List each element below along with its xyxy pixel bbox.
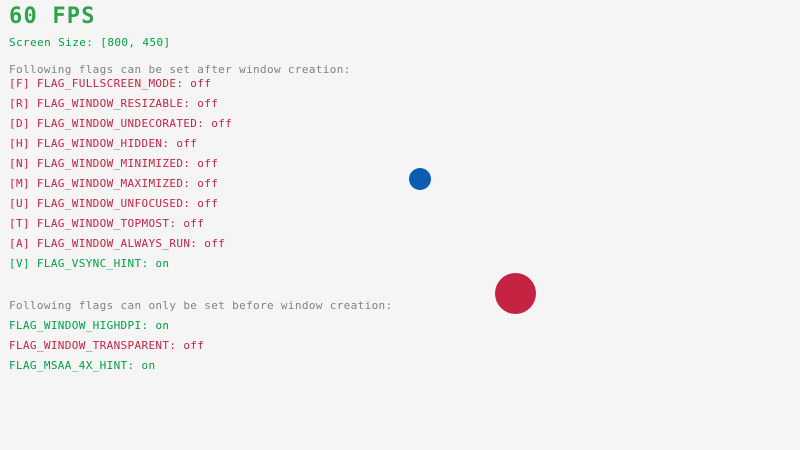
after-creation-heading: Following flags can be set after window … xyxy=(9,64,351,75)
flag-hotkey: [H] xyxy=(9,137,37,150)
flag-hotkey: [M] xyxy=(9,177,37,190)
flag-name: FLAG_VSYNC_HINT: xyxy=(37,257,156,270)
flag-value: off xyxy=(197,197,218,210)
flag-value: on xyxy=(155,319,169,332)
flag-hotkey: [T] xyxy=(9,217,37,230)
flag-flag-window-transparent[interactable]: FLAG_WINDOW_TRANSPARENT: off xyxy=(9,340,204,351)
flag-value: off xyxy=(183,217,204,230)
flag-hotkey: [N] xyxy=(9,157,37,170)
flag-hotkey: [D] xyxy=(9,117,37,130)
ball-blue xyxy=(409,168,431,190)
flag-name: FLAG_MSAA_4X_HINT: xyxy=(9,359,141,372)
flag-flag-window-resizable[interactable]: [R] FLAG_WINDOW_RESIZABLE: off xyxy=(9,98,218,109)
flag-value: off xyxy=(197,157,218,170)
flag-flag-window-topmost[interactable]: [T] FLAG_WINDOW_TOPMOST: off xyxy=(9,218,204,229)
flag-hotkey: [A] xyxy=(9,237,37,250)
flag-hotkey: [F] xyxy=(9,77,37,90)
flag-value: off xyxy=(204,237,225,250)
flag-flag-vsync-hint[interactable]: [V] FLAG_VSYNC_HINT: on xyxy=(9,258,169,269)
flag-name: FLAG_FULLSCREEN_MODE: xyxy=(37,77,190,90)
flag-value: off xyxy=(176,137,197,150)
flag-name: FLAG_WINDOW_HIGHDPI: xyxy=(9,319,155,332)
flag-name: FLAG_WINDOW_UNFOCUSED: xyxy=(37,197,197,210)
flag-flag-msaa-4x-hint[interactable]: FLAG_MSAA_4X_HINT: on xyxy=(9,360,155,371)
flag-value: off xyxy=(197,177,218,190)
flag-flag-window-unfocused[interactable]: [U] FLAG_WINDOW_UNFOCUSED: off xyxy=(9,198,218,209)
flag-value: off xyxy=(190,77,211,90)
flag-flag-fullscreen-mode[interactable]: [F] FLAG_FULLSCREEN_MODE: off xyxy=(9,78,211,89)
flag-flag-window-maximized[interactable]: [M] FLAG_WINDOW_MAXIMIZED: off xyxy=(9,178,218,189)
flag-value: off xyxy=(197,97,218,110)
app-window: 60 FPS Screen Size: [800, 450] Following… xyxy=(0,0,800,450)
flag-value: off xyxy=(183,339,204,352)
screen-size-label: Screen Size: [800, 450] xyxy=(9,37,171,48)
before-creation-heading: Following flags can only be set before w… xyxy=(9,300,393,311)
flag-name: FLAG_WINDOW_ALWAYS_RUN: xyxy=(37,237,204,250)
flag-value: on xyxy=(155,257,169,270)
flag-name: FLAG_WINDOW_MAXIMIZED: xyxy=(37,177,197,190)
flag-flag-window-undecorated[interactable]: [D] FLAG_WINDOW_UNDECORATED: off xyxy=(9,118,232,129)
flag-flag-window-always-run[interactable]: [A] FLAG_WINDOW_ALWAYS_RUN: off xyxy=(9,238,225,249)
flag-hotkey: [V] xyxy=(9,257,37,270)
flag-name: FLAG_WINDOW_HIDDEN: xyxy=(37,137,176,150)
flag-flag-window-hidden[interactable]: [H] FLAG_WINDOW_HIDDEN: off xyxy=(9,138,197,149)
ball-red xyxy=(495,273,536,314)
flag-name: FLAG_WINDOW_TRANSPARENT: xyxy=(9,339,183,352)
flag-name: FLAG_WINDOW_TOPMOST: xyxy=(37,217,183,230)
flag-value: on xyxy=(141,359,155,372)
fps-counter: 60 FPS xyxy=(9,6,96,28)
flag-name: FLAG_WINDOW_RESIZABLE: xyxy=(37,97,197,110)
flag-name: FLAG_WINDOW_UNDECORATED: xyxy=(37,117,211,130)
flag-name: FLAG_WINDOW_MINIMIZED: xyxy=(37,157,197,170)
flag-value: off xyxy=(211,117,232,130)
flag-flag-window-minimized[interactable]: [N] FLAG_WINDOW_MINIMIZED: off xyxy=(9,158,218,169)
flag-flag-window-highdpi[interactable]: FLAG_WINDOW_HIGHDPI: on xyxy=(9,320,169,331)
flag-hotkey: [R] xyxy=(9,97,37,110)
flag-hotkey: [U] xyxy=(9,197,37,210)
